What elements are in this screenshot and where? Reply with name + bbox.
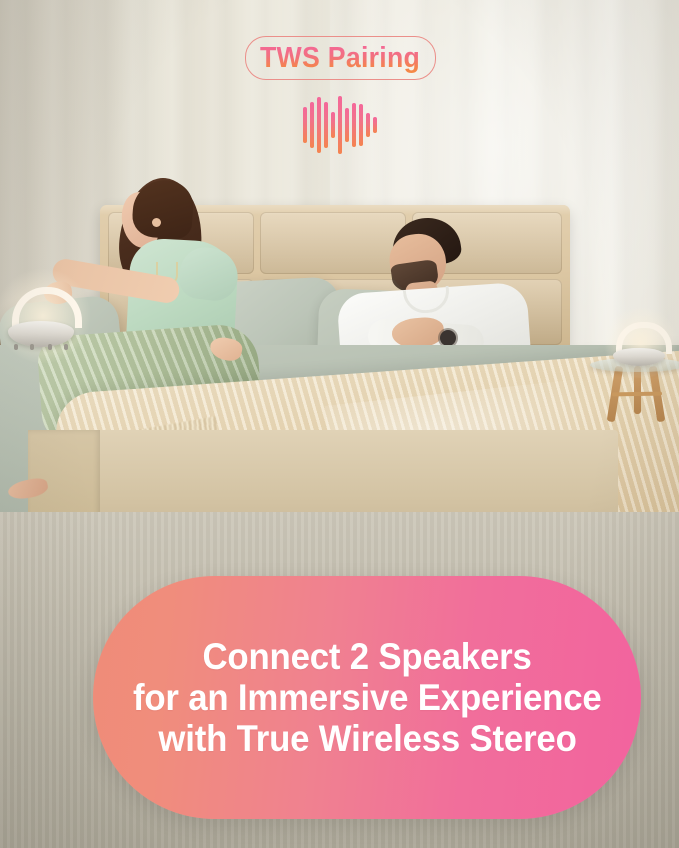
waveform-bar: [303, 107, 307, 143]
side-table-leg: [634, 366, 641, 414]
waveform-bar: [366, 113, 370, 136]
waveform-bar: [324, 102, 328, 147]
headline-line-1: Connect 2 Speakers: [202, 636, 531, 677]
portable-lamp-speaker-right: [613, 322, 669, 366]
waveform-bar: [310, 102, 314, 148]
speaker-base: [613, 348, 665, 366]
headboard-panel: [260, 212, 406, 274]
headline-line-2: for an Immersive Experience: [133, 677, 602, 718]
product-marketing-image: TWS Pairing Connect 2 Speakers for an Im…: [0, 0, 679, 848]
wristwatch: [440, 330, 456, 346]
waveform-bar: [352, 103, 356, 147]
tws-pairing-label: TWS Pairing: [260, 44, 420, 73]
woman-earring: [152, 218, 161, 227]
waveform-bar: [331, 112, 335, 138]
portable-lamp-speaker-left: [8, 285, 78, 357]
waveform-bar: [338, 96, 342, 154]
audio-waveform-icon: [303, 96, 377, 154]
waveform-bar: [359, 104, 363, 147]
waveform-bar: [317, 97, 321, 153]
tws-pairing-badge: TWS Pairing: [245, 36, 436, 80]
headline-banner: Connect 2 Speakers for an Immersive Expe…: [93, 576, 641, 819]
headline-line-3: with True Wireless Stereo: [158, 718, 576, 759]
waveform-bar: [373, 117, 377, 132]
waveform-bar: [345, 108, 349, 142]
speaker-feet: [14, 344, 68, 350]
